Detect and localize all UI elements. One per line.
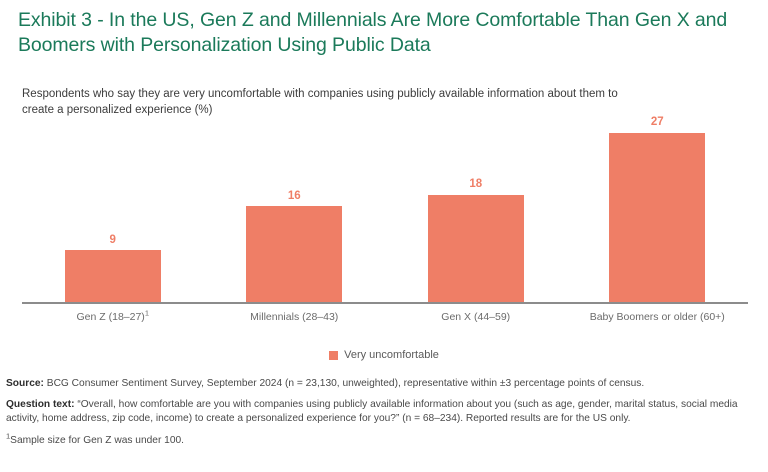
page-title: Exhibit 3 - In the US, Gen Z and Millenn…: [18, 8, 753, 58]
bar-value-label: 27: [651, 116, 664, 128]
chart-footnotes: Source: BCG Consumer Sentiment Survey, S…: [6, 377, 762, 448]
x-axis-label-baby-boomers: Baby Boomers or older (60+): [567, 310, 749, 324]
chart-subtitle: Respondents who say they are very uncomf…: [22, 86, 622, 118]
legend-item-label: Very uncomfortable: [344, 349, 439, 361]
bar-gen-x[interactable]: [428, 195, 524, 303]
legend-swatch-icon: [329, 351, 338, 360]
question-note: Question text: “Overall, how comfortable…: [6, 398, 762, 426]
footnote-1: 1Sample size for Gen Z was under 100.: [6, 434, 762, 448]
x-axis-label-millennials: Millennials (28–43): [204, 310, 386, 324]
exhibit-chart-page: Exhibit 3 - In the US, Gen Z and Millenn…: [0, 0, 768, 472]
bar-millennials[interactable]: [246, 206, 342, 303]
legend-item-very-uncomfortable[interactable]: Very uncomfortable: [329, 349, 439, 361]
x-axis-label-gen-x: Gen X (44–59): [385, 310, 567, 324]
source-note: Source: BCG Consumer Sentiment Survey, S…: [6, 377, 762, 391]
bar-value-label: 16: [288, 190, 301, 202]
bar-value-label: 18: [469, 178, 482, 190]
source-note-text: BCG Consumer Sentiment Survey, September…: [44, 378, 644, 389]
bar-slot: 16: [204, 125, 386, 303]
x-axis-label-gen-z: Gen Z (18–27)1: [22, 310, 204, 324]
x-axis-category-labels: Gen Z (18–27)1 Millennials (28–43) Gen X…: [22, 310, 748, 328]
footnote-text: Sample size for Gen Z was under 100.: [10, 435, 184, 446]
source-note-label: Source:: [6, 378, 44, 389]
bar-slot: 27: [567, 125, 749, 303]
bar-slot: 9: [22, 125, 204, 303]
x-axis-label-footnote-marker: 1: [145, 309, 149, 318]
question-note-text: “Overall, how comfortable are you with c…: [6, 399, 738, 424]
x-axis-label-text: Gen Z (18–27): [77, 311, 145, 323]
bar-slot: 18: [385, 125, 567, 303]
bar-chart-plot-area: 9 16 18 27: [22, 125, 748, 303]
bar-value-label: 9: [110, 234, 116, 246]
bar-gen-z[interactable]: [65, 250, 161, 303]
x-axis-line: [22, 302, 748, 304]
question-note-label: Question text:: [6, 399, 75, 410]
chart-legend: Very uncomfortable: [0, 349, 768, 361]
bar-baby-boomers[interactable]: [609, 133, 705, 303]
